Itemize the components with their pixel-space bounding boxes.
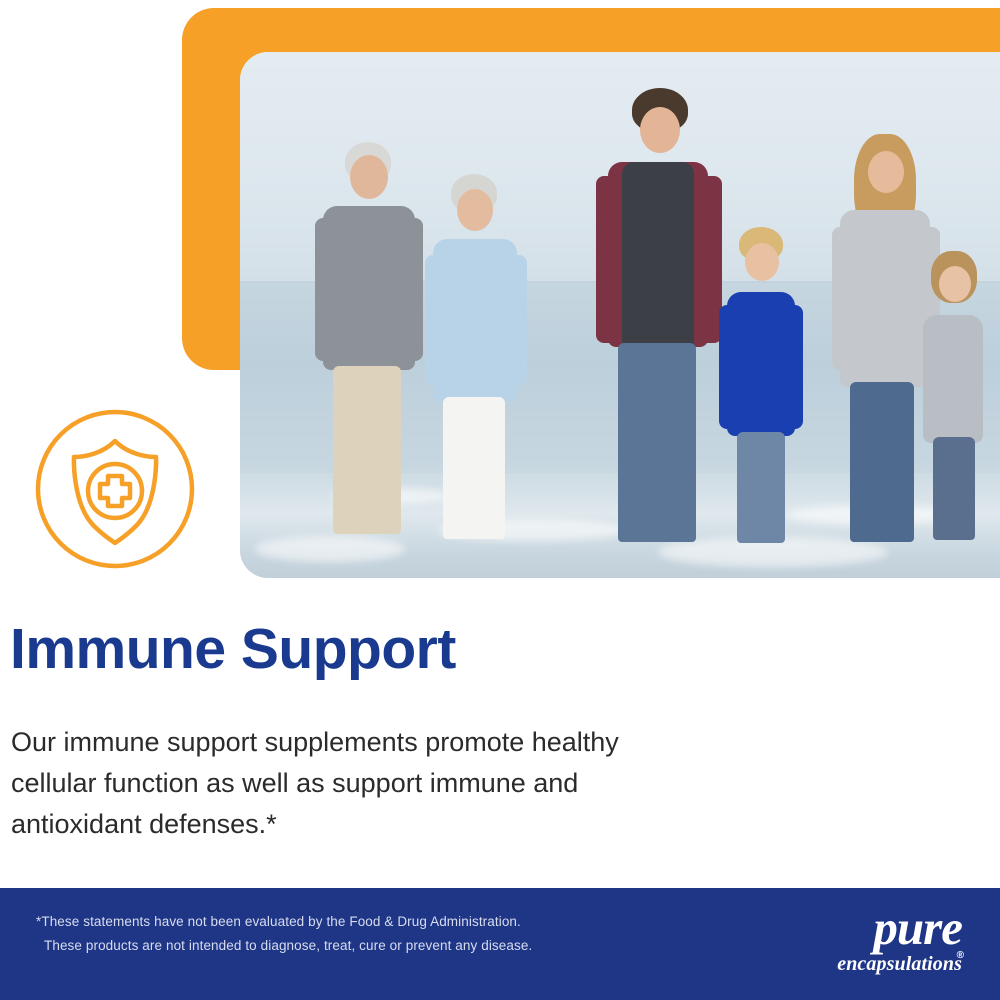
brand-wordmark: pure xyxy=(762,905,962,952)
fda-disclaimer: *These statements have not been evaluate… xyxy=(36,910,532,957)
shield-icon xyxy=(32,406,198,572)
description-line: Our immune support supplements promote h… xyxy=(11,722,911,763)
description-line: cellular function as well as support imm… xyxy=(11,763,911,804)
beach-scene-illustration xyxy=(240,52,1000,578)
registered-trademark-icon: ® xyxy=(957,950,964,961)
person-grandmother xyxy=(415,162,535,546)
hero-photo xyxy=(240,52,1000,578)
page-title: Immune Support xyxy=(10,618,456,681)
hero-section xyxy=(0,0,1000,600)
brand-subtitle: encapsulations xyxy=(762,953,962,975)
person-boy xyxy=(711,220,811,546)
footer-bar: *These statements have not been evaluate… xyxy=(0,888,1000,1000)
pure-encapsulations-logo: pure encapsulations ® xyxy=(762,905,962,981)
disclaimer-line: *These statements have not been evaluate… xyxy=(36,910,532,934)
person-grandfather xyxy=(301,126,431,547)
description-line: antioxidant defenses.* xyxy=(11,804,911,845)
person-girl xyxy=(909,241,999,546)
person-father xyxy=(582,84,732,547)
page-description: Our immune support supplements promote h… xyxy=(11,722,911,845)
disclaimer-line: These products are not intended to diagn… xyxy=(36,934,532,958)
